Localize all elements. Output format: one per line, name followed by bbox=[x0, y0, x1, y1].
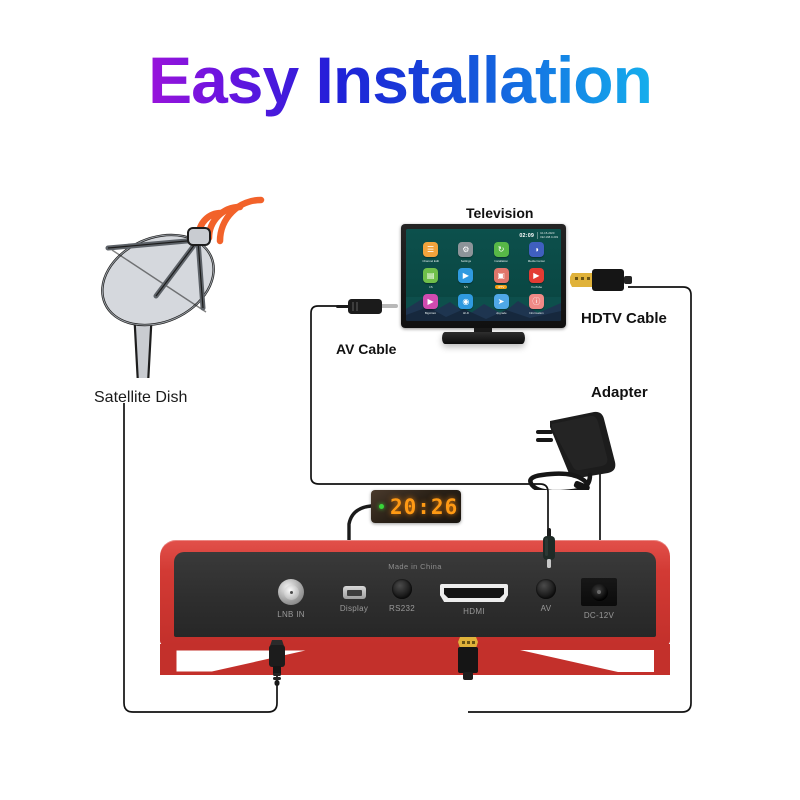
tv-app-label: CS bbox=[429, 285, 433, 289]
hdmi-plug-icon bbox=[570, 266, 632, 299]
port-label: DC-12V bbox=[584, 611, 614, 620]
tv-app-icon: ◑ bbox=[529, 242, 544, 257]
tv-status-bar: 02:09 10-15-2020 192.168.0.249 bbox=[519, 232, 558, 239]
tv-app-icon: ▣ bbox=[494, 268, 509, 283]
hdmi-plug-bottom-icon bbox=[455, 637, 481, 690]
tv-app-label: IPTV bbox=[495, 285, 507, 289]
tv-app-icon: ▶ bbox=[529, 268, 544, 283]
tv-app-upgrade[interactable]: ➤Upgrade bbox=[484, 294, 519, 320]
tv-bezel: 02:09 10-15-2020 192.168.0.249 ☰Channel … bbox=[401, 224, 566, 328]
port-dc12v[interactable]: DC-12V bbox=[559, 578, 639, 620]
receiver-stand bbox=[160, 644, 670, 675]
cable-av bbox=[311, 306, 339, 313]
port-hdmi[interactable]: HDMI bbox=[434, 584, 514, 616]
hdtv-cable-label: HDTV Cable bbox=[581, 310, 667, 327]
tv-app-icon: ↻ bbox=[494, 242, 509, 257]
tv-app-label: Installation bbox=[494, 259, 508, 263]
tv-app-icon: ⓘ bbox=[529, 294, 544, 309]
tv-app-iptv[interactable]: ▣IPTV bbox=[484, 268, 519, 294]
power-led-icon bbox=[379, 504, 384, 509]
port-label: AV bbox=[541, 604, 552, 613]
lnb-coax-plug-icon bbox=[266, 640, 288, 691]
tv-app-settings[interactable]: ⚙Settings bbox=[448, 242, 483, 268]
tv-app-label: A/V bbox=[464, 285, 469, 289]
av-plug-bottom-icon bbox=[539, 528, 559, 579]
port-body[interactable] bbox=[392, 579, 412, 599]
tv-app-label: Media Center bbox=[528, 259, 545, 263]
television: 02:09 10-15-2020 192.168.0.249 ☰Channel … bbox=[401, 224, 566, 346]
receiver-port-row: LNB INDisplayRS232HDMIAVDC-12V bbox=[174, 576, 656, 636]
tv-app-label: YouTube bbox=[531, 285, 542, 289]
port-body[interactable] bbox=[581, 578, 617, 606]
port-body[interactable] bbox=[278, 579, 304, 605]
tv-app-label: Channel Edit bbox=[422, 259, 439, 263]
tv-app-a-v[interactable]: ▶A/V bbox=[448, 268, 483, 294]
led-display-module: 20:26 bbox=[371, 490, 461, 523]
tv-app-media-center[interactable]: ◑Media Center bbox=[519, 242, 554, 268]
led-clock-time: 20:26 bbox=[390, 495, 458, 519]
port-body[interactable] bbox=[440, 584, 508, 602]
tv-app-label: Upgrade bbox=[496, 311, 507, 315]
power-adapter-icon bbox=[516, 405, 646, 495]
satellite-receiver: Made in China LNB INDisplayRS232HDMIAVDC… bbox=[160, 540, 670, 675]
port-label: LNB IN bbox=[277, 610, 305, 619]
av-plug-icon bbox=[336, 297, 398, 322]
receiver-body: Made in China LNB INDisplayRS232HDMIAVDC… bbox=[160, 540, 670, 645]
satellite-dish bbox=[78, 188, 308, 378]
port-label: RS232 bbox=[389, 604, 415, 613]
tv-app-installation[interactable]: ↻Installation bbox=[484, 242, 519, 268]
tv-screen: 02:09 10-15-2020 192.168.0.249 ☰Channel … bbox=[406, 229, 561, 321]
tv-app-icon: ▶ bbox=[458, 268, 473, 283]
tv-app-label: BigsCast bbox=[425, 311, 437, 315]
satellite-dish-label: Satellite Dish bbox=[94, 389, 187, 407]
port-body[interactable] bbox=[536, 579, 556, 599]
tv-app-label: Information bbox=[529, 311, 543, 315]
tv-app-information[interactable]: ⓘInformation bbox=[519, 294, 554, 320]
tv-app-icon: ⚙ bbox=[458, 242, 473, 257]
tv-app-icon: ▤ bbox=[423, 268, 438, 283]
tv-app-grid[interactable]: ☰Channel Edit⚙Settings↻Installation◑Medi… bbox=[413, 242, 554, 320]
tv-app-label: Wi-Fi bbox=[463, 311, 470, 315]
av-cable-label: AV Cable bbox=[336, 341, 396, 357]
port-rs232[interactable]: RS232 bbox=[362, 579, 442, 613]
tv-app-label: Settings bbox=[461, 259, 471, 263]
tv-app-bigscast[interactable]: ▶BigsCast bbox=[413, 294, 448, 320]
tv-clock: 02:09 bbox=[519, 233, 534, 239]
tv-app-wi-fi[interactable]: ◉Wi-Fi bbox=[448, 294, 483, 320]
port-label: HDMI bbox=[463, 607, 485, 616]
tv-meta-ip: 192.168.0.249 bbox=[540, 236, 558, 239]
lnb-head bbox=[188, 228, 210, 245]
receiver-faceplate: Made in China LNB INDisplayRS232HDMIAVDC… bbox=[174, 552, 656, 637]
tv-app-icon: ☰ bbox=[423, 242, 438, 257]
tv-app-icon: ▶ bbox=[423, 294, 438, 309]
television-label: Television bbox=[466, 205, 533, 221]
tv-stand-base bbox=[442, 332, 525, 344]
tv-app-cs[interactable]: ▤CS bbox=[413, 268, 448, 294]
tv-app-icon: ◉ bbox=[458, 294, 473, 309]
tv-app-channel-edit[interactable]: ☰Channel Edit bbox=[413, 242, 448, 268]
tv-app-youtube[interactable]: ▶YouTube bbox=[519, 268, 554, 294]
made-in-text: Made in China bbox=[174, 562, 656, 571]
adapter-label: Adapter bbox=[591, 384, 648, 401]
tv-app-icon: ➤ bbox=[494, 294, 509, 309]
installation-diagram: Easy Installation bbox=[0, 0, 800, 800]
